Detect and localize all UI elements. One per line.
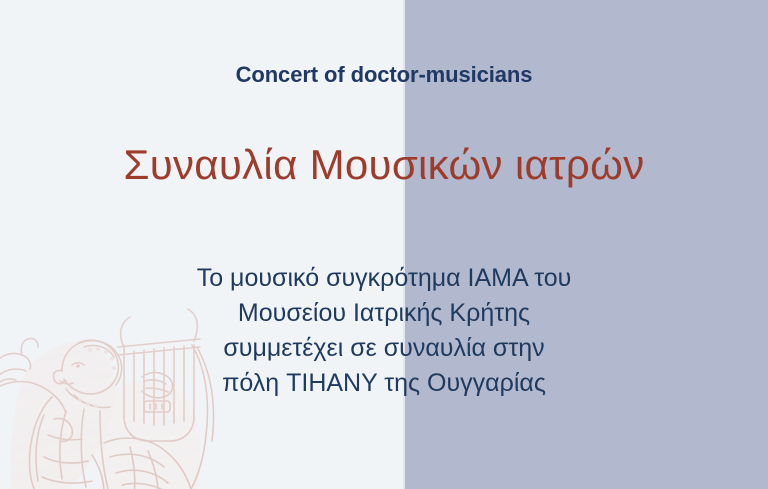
body-line: πόλη TIHANY της Ουγγαρίας bbox=[0, 366, 768, 401]
body-line: Το μουσικό συγκρότημα ΙΑΜΑ του bbox=[0, 261, 768, 296]
presentation-slide: Concert of doctor-musicians Συναυλία Μου… bbox=[0, 0, 768, 489]
body-line: Μουσείου Ιατρικής Κρήτης bbox=[0, 296, 768, 331]
slide-main-heading: Συναυλία Μουσικών ιατρών bbox=[0, 141, 768, 189]
slide-text-layer: Concert of doctor-musicians Συναυλία Μου… bbox=[0, 0, 768, 489]
slide-eyebrow-title: Concert of doctor-musicians bbox=[0, 62, 768, 88]
slide-body-block: Το μουσικό συγκρότημα ΙΑΜΑ του Μουσείου … bbox=[0, 261, 768, 401]
body-line: συμμετέχει σε συναυλία στην bbox=[0, 331, 768, 366]
